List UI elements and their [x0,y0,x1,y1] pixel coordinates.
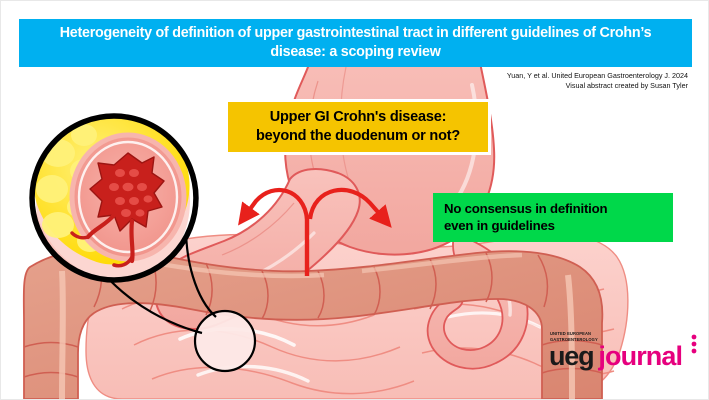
ueg-logo-subtitle-line1: UNITED EUROPEAN [550,331,699,336]
callout-finding-line1: No consensus in definition [444,200,663,217]
citation-reference: Yuan, Y et al. United European Gastroent… [408,71,688,81]
visual-abstract-poster: Heterogeneity of definition of upper gas… [0,0,709,400]
citation-block: Yuan, Y et al. United European Gastroent… [408,71,688,92]
ueg-logo-wordmark: ueg journal [549,343,699,370]
ueg-logo-journal-text: journal [598,343,682,370]
page-title: Heterogeneity of definition of upper gas… [33,24,678,61]
ueg-logo-dots-icon [689,333,699,355]
callout-question-line1: Upper GI Crohn's disease: [238,108,478,127]
callout-finding-line2: even in guidelines [444,217,663,234]
callout-question-line2: beyond the duodenum or not? [238,127,478,146]
ueg-logo-ueg-text: ueg [549,343,593,370]
callout-question-box: Upper GI Crohn's disease: beyond the duo… [225,99,491,155]
callout-finding-box: No consensus in definition even in guide… [433,193,673,242]
citation-credit: Visual abstract created by Susan Tyler [408,81,688,91]
ueg-journal-logo: UNITED EUROPEAN GASTROENTEROLOGY ueg jou… [549,331,699,370]
lesion-marker [195,311,255,371]
poster-title-banner: Heterogeneity of definition of upper gas… [19,19,692,67]
